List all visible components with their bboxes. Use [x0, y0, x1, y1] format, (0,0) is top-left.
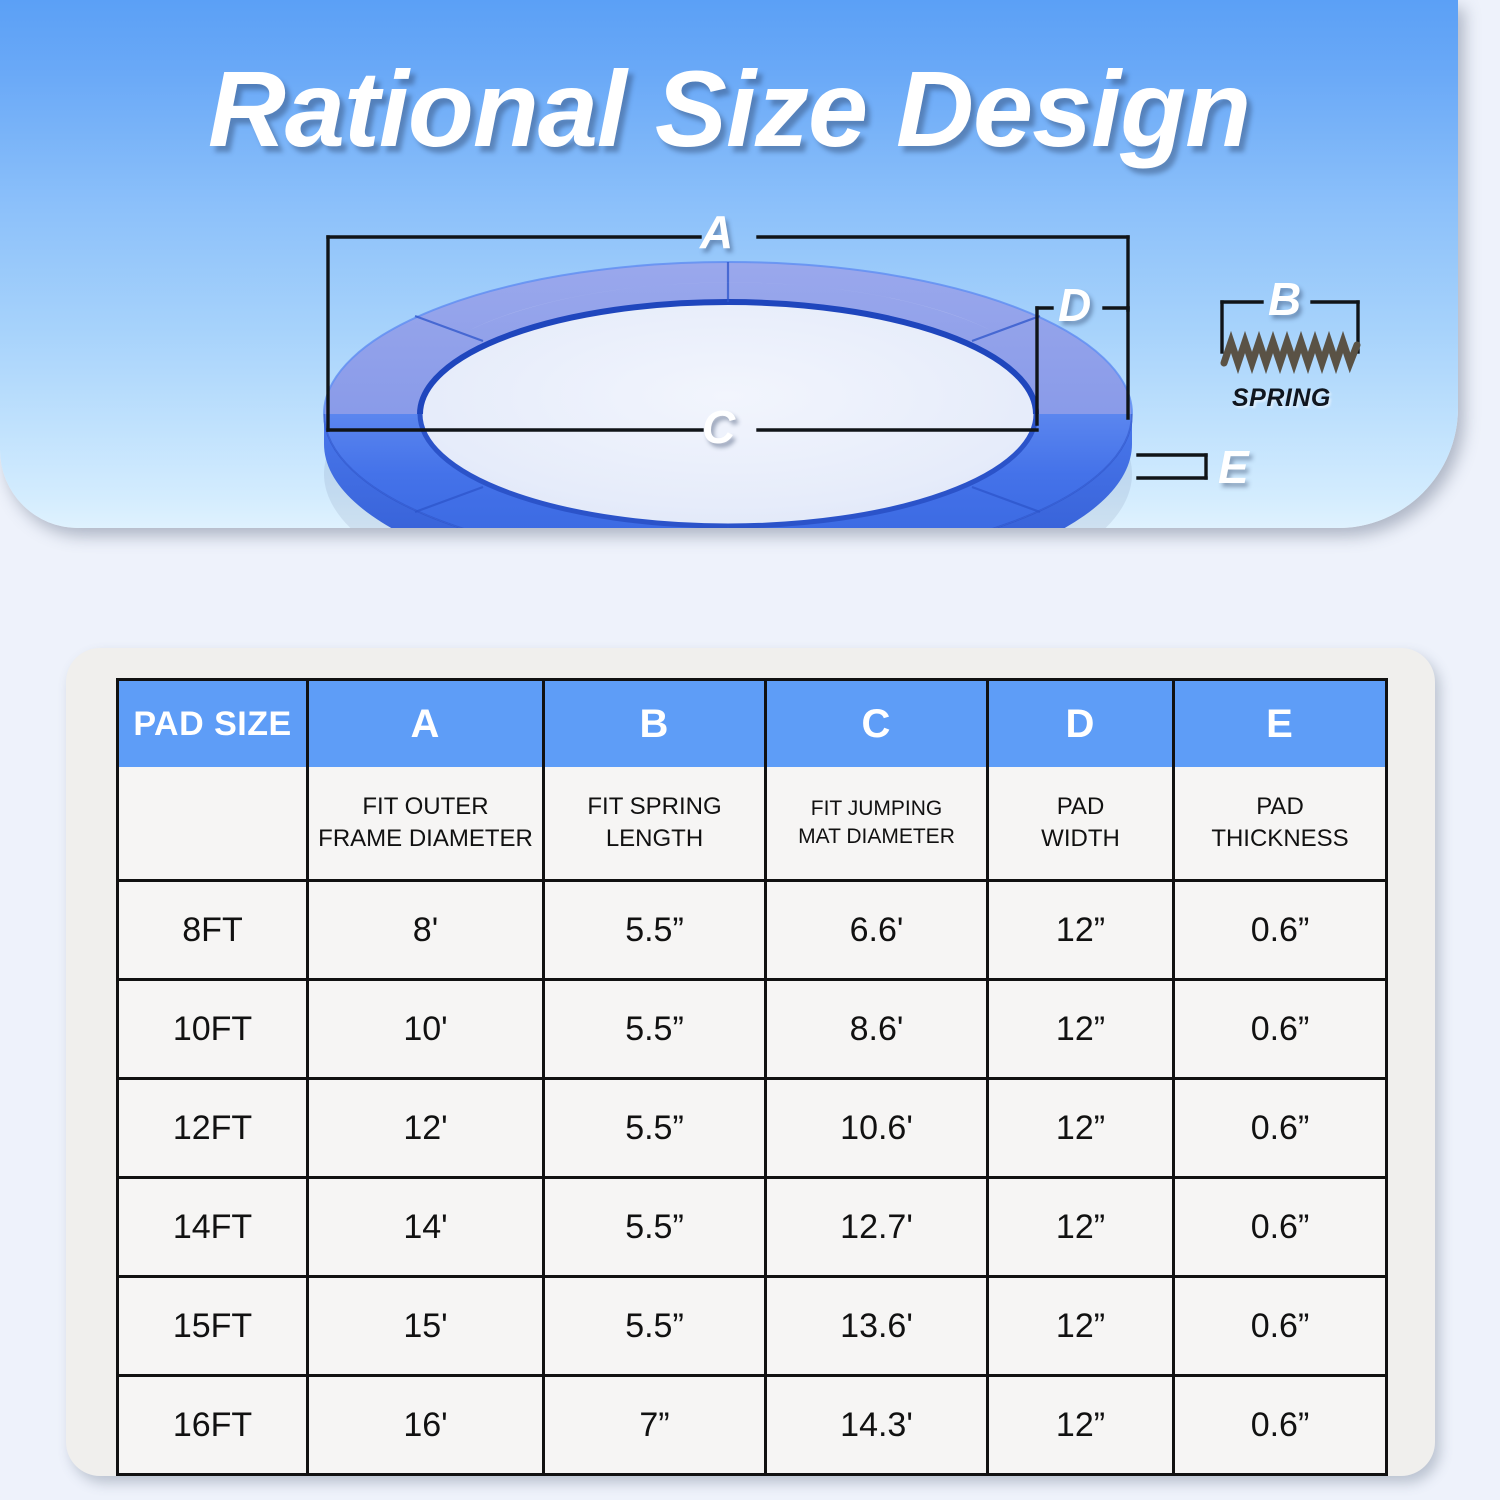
table-row: 12FT12'5.5”10.6'12”0.6” — [118, 1079, 1387, 1178]
cell-fit-spring-length: 5.5” — [544, 980, 766, 1079]
cell-fit-outer-frame-diameter: 15' — [308, 1277, 544, 1376]
cell-fit-outer-frame-diameter: 10' — [308, 980, 544, 1079]
spring-caption: SPRING — [1232, 384, 1331, 413]
table-row: 8FT8'5.5”6.6'12”0.6” — [118, 881, 1387, 980]
cell-pad-width: 12” — [988, 881, 1174, 980]
table-row: 10FT10'5.5”8.6'12”0.6” — [118, 980, 1387, 1079]
cell-pad-width: 12” — [988, 1277, 1174, 1376]
cell-pad-width: 12” — [988, 1376, 1174, 1475]
subheader-c-line2: MAT DIAMETER — [767, 823, 986, 851]
cell-pad-size: 14FT — [118, 1178, 308, 1277]
cell-pad-size: 8FT — [118, 881, 308, 980]
cell-pad-thickness: 0.6” — [1174, 1376, 1387, 1475]
cell-fit-jumping-mat-diameter: 14.3' — [766, 1376, 988, 1475]
subheader-d: PAD WIDTH — [988, 767, 1174, 881]
subheader-a-line2: FRAME DIAMETER — [309, 823, 542, 855]
cell-pad-width: 12” — [988, 980, 1174, 1079]
subheader-blank — [118, 767, 308, 881]
subheader-d-line2: WIDTH — [989, 823, 1172, 855]
header-e: E — [1174, 680, 1387, 768]
dimension-label-b: B — [1268, 272, 1301, 326]
subheader-e-line1: PAD — [1175, 791, 1385, 823]
subheader-c: FIT JUMPING MAT DIAMETER — [766, 767, 988, 881]
cell-pad-width: 12” — [988, 1079, 1174, 1178]
spring-icon — [1224, 342, 1357, 363]
dimension-label-d: D — [1058, 278, 1091, 332]
table-row: 14FT14'5.5”12.7'12”0.6” — [118, 1178, 1387, 1277]
dimension-label-e: E — [1218, 440, 1249, 494]
cell-pad-width: 12” — [988, 1178, 1174, 1277]
subheader-c-line1: FIT JUMPING — [767, 795, 986, 823]
table-header-row: PAD SIZE A B C D E — [118, 680, 1387, 768]
cell-pad-size: 16FT — [118, 1376, 308, 1475]
cell-fit-spring-length: 7” — [544, 1376, 766, 1475]
hero-panel: Rational Size Design — [0, 0, 1458, 528]
table-row: 15FT15'5.5”13.6'12”0.6” — [118, 1277, 1387, 1376]
cell-fit-outer-frame-diameter: 12' — [308, 1079, 544, 1178]
subheader-a-line1: FIT OUTER — [309, 791, 542, 823]
dimension-e — [1138, 455, 1206, 478]
cell-fit-jumping-mat-diameter: 6.6' — [766, 881, 988, 980]
cell-fit-outer-frame-diameter: 8' — [308, 881, 544, 980]
subheader-b-line1: FIT SPRING — [545, 791, 764, 823]
subheader-e-line2: THICKNESS — [1175, 823, 1385, 855]
table-row: 16FT16'7”14.3'12”0.6” — [118, 1376, 1387, 1475]
cell-fit-jumping-mat-diameter: 10.6' — [766, 1079, 988, 1178]
header-a: A — [308, 680, 544, 768]
subheader-b: FIT SPRING LENGTH — [544, 767, 766, 881]
cell-pad-thickness: 0.6” — [1174, 1178, 1387, 1277]
subheader-d-line1: PAD — [989, 791, 1172, 823]
trampoline-diagram: A C D B E SPRING — [0, 0, 1458, 528]
cell-pad-size: 10FT — [118, 980, 308, 1079]
cell-pad-thickness: 0.6” — [1174, 1277, 1387, 1376]
subheader-b-line2: LENGTH — [545, 823, 764, 855]
header-pad-size: PAD SIZE — [118, 680, 308, 768]
cell-pad-size: 12FT — [118, 1079, 308, 1178]
table-body: 8FT8'5.5”6.6'12”0.6”10FT10'5.5”8.6'12”0.… — [118, 881, 1387, 1475]
header-b: B — [544, 680, 766, 768]
cell-fit-spring-length: 5.5” — [544, 1277, 766, 1376]
cell-fit-outer-frame-diameter: 16' — [308, 1376, 544, 1475]
cell-fit-spring-length: 5.5” — [544, 1079, 766, 1178]
cell-fit-spring-length: 5.5” — [544, 881, 766, 980]
cell-fit-jumping-mat-diameter: 13.6' — [766, 1277, 988, 1376]
dimension-label-a: A — [700, 205, 733, 259]
dimension-label-c: C — [702, 400, 735, 454]
cell-fit-outer-frame-diameter: 14' — [308, 1178, 544, 1277]
cell-fit-jumping-mat-diameter: 8.6' — [766, 980, 988, 1079]
header-d: D — [988, 680, 1174, 768]
cell-pad-thickness: 0.6” — [1174, 1079, 1387, 1178]
cell-pad-thickness: 0.6” — [1174, 881, 1387, 980]
trampoline-pad-graphic — [324, 262, 1132, 528]
cell-fit-jumping-mat-diameter: 12.7' — [766, 1178, 988, 1277]
subheader-e: PAD THICKNESS — [1174, 767, 1387, 881]
size-table: PAD SIZE A B C D E FIT OUTER FRAME DIAME… — [116, 678, 1388, 1476]
table-subheader-row: FIT OUTER FRAME DIAMETER FIT SPRING LENG… — [118, 767, 1387, 881]
cell-pad-size: 15FT — [118, 1277, 308, 1376]
cell-fit-spring-length: 5.5” — [544, 1178, 766, 1277]
header-c: C — [766, 680, 988, 768]
subheader-a: FIT OUTER FRAME DIAMETER — [308, 767, 544, 881]
cell-pad-thickness: 0.6” — [1174, 980, 1387, 1079]
size-table-card: PAD SIZE A B C D E FIT OUTER FRAME DIAME… — [66, 648, 1435, 1476]
